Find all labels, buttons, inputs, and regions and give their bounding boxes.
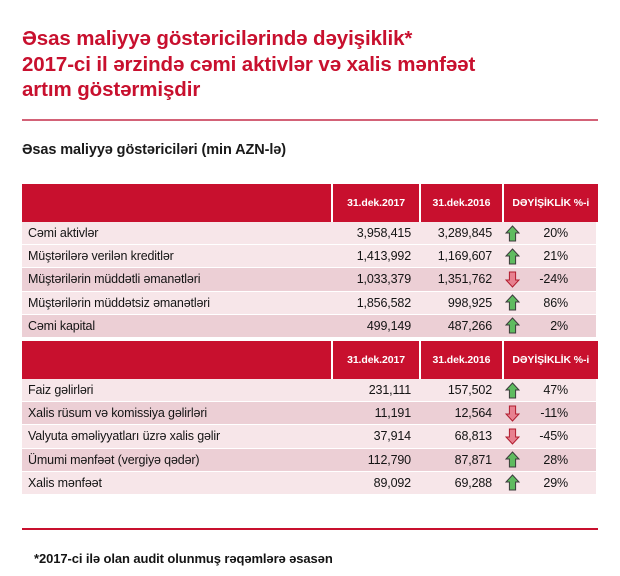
row-value-2017: 112,790 — [333, 449, 420, 471]
row-change: 20% — [501, 222, 596, 244]
arrow-down-icon — [505, 405, 520, 422]
row-label: Müştərilərin müddətli əmanətləri — [22, 268, 333, 290]
row-value-2016: 3,289,845 — [420, 222, 501, 244]
row-label: Müştərilərə verilən kreditlər — [22, 245, 333, 267]
table-row: Valyuta əməliyyatları üzrə xalis gəlir 3… — [22, 425, 598, 447]
row-value-2017: 37,914 — [333, 425, 420, 447]
row-value-2016: 1,351,762 — [420, 268, 501, 290]
row-value-2017: 1,033,379 — [333, 268, 420, 290]
table-header-row: 31.dek.2017 31.dek.2016 DƏYİŞİKLİK %-i — [22, 184, 598, 222]
row-value-2016: 87,871 — [420, 449, 501, 471]
row-value-2017: 3,958,415 — [333, 222, 420, 244]
row-change-value: -24% — [522, 272, 578, 286]
arrow-up-icon — [505, 474, 520, 491]
row-change-value: 28% — [522, 453, 578, 467]
row-label: Cəmi aktivlər — [22, 222, 333, 244]
row-value-2017: 11,191 — [333, 402, 420, 424]
row-label: Xalis rüsum və komissiya gəlirləri — [22, 402, 333, 424]
footer-divider — [22, 528, 598, 530]
row-label: Müştərilərin müddətsiz əmanətləri — [22, 292, 333, 314]
row-change: 29% — [501, 472, 596, 494]
row-value-2016: 12,564 — [420, 402, 501, 424]
row-value-2017: 89,092 — [333, 472, 420, 494]
header-cell-change: DƏYİŞİKLİK %-i — [504, 341, 598, 379]
row-value-2017: 231,111 — [333, 379, 420, 401]
arrow-up-icon — [505, 451, 520, 468]
arrow-up-icon — [505, 294, 520, 311]
row-value-2016: 1,169,607 — [420, 245, 501, 267]
header-cell-label — [22, 341, 331, 379]
page-title-line-2: 2017-ci il ərzində cəmi aktivlər və xali… — [22, 52, 598, 78]
header-cell-2017: 31.dek.2017 — [333, 184, 419, 222]
table-row: Cəmi kapital 499,149 487,266 2% — [22, 315, 598, 337]
row-label: Ümumi mənfəət (vergiyə qədər) — [22, 449, 333, 471]
row-label: Xalis mənfəət — [22, 472, 333, 494]
row-change: -45% — [501, 425, 596, 447]
table-row: Ümumi mənfəət (vergiyə qədər) 112,790 87… — [22, 449, 598, 471]
financial-table-income: 31.dek.2017 31.dek.2016 DƏYİŞİKLİK %-i F… — [22, 341, 598, 495]
table-row: Xalis rüsum və komissiya gəlirləri 11,19… — [22, 402, 598, 424]
section-subtitle: Əsas maliyyə göstəriciləri (min AZN-lə) — [22, 142, 286, 158]
row-change-value: 2% — [522, 319, 578, 333]
arrow-up-icon — [505, 225, 520, 242]
row-label: Faiz gəlirləri — [22, 379, 333, 401]
table-row: Müştərilərin müddətli əmanətləri 1,033,3… — [22, 268, 598, 290]
row-value-2017: 1,413,992 — [333, 245, 420, 267]
row-change-value: -11% — [522, 406, 578, 420]
row-value-2017: 499,149 — [333, 315, 420, 337]
header-cell-2017: 31.dek.2017 — [333, 341, 419, 379]
row-change: 86% — [501, 292, 596, 314]
title-divider — [22, 119, 598, 121]
row-value-2016: 157,502 — [420, 379, 501, 401]
row-change: 47% — [501, 379, 596, 401]
table-row: Faiz gəlirləri 231,111 157,502 47% — [22, 379, 598, 401]
table-row: Müştərilərə verilən kreditlər 1,413,992 … — [22, 245, 598, 267]
arrow-up-icon — [505, 382, 520, 399]
row-change: -11% — [501, 402, 596, 424]
row-value-2017: 1,856,582 — [333, 292, 420, 314]
row-change: 28% — [501, 449, 596, 471]
row-change-value: 47% — [522, 383, 578, 397]
row-change-value: 21% — [522, 249, 578, 263]
row-value-2016: 487,266 — [420, 315, 501, 337]
arrow-up-icon — [505, 248, 520, 265]
row-change-value: 86% — [522, 296, 578, 310]
row-value-2016: 68,813 — [420, 425, 501, 447]
table-header-row: 31.dek.2017 31.dek.2016 DƏYİŞİKLİK %-i — [22, 341, 598, 379]
arrow-down-icon — [505, 271, 520, 288]
header-cell-2016: 31.dek.2016 — [421, 184, 501, 222]
infographic-page: Əsas maliyyə göstəricilərində dəyişiklik… — [0, 0, 620, 576]
page-title-line-3: artım göstərmişdir — [22, 77, 598, 103]
row-change: 2% — [501, 315, 596, 337]
page-title: Əsas maliyyə göstəricilərində dəyişiklik… — [22, 26, 598, 103]
header-cell-change: DƏYİŞİKLİK %-i — [504, 184, 598, 222]
header-cell-2016: 31.dek.2016 — [421, 341, 501, 379]
table-row: Müştərilərin müddətsiz əmanətləri 1,856,… — [22, 292, 598, 314]
table-row: Cəmi aktivlər 3,958,415 3,289,845 20% — [22, 222, 598, 244]
row-change: 21% — [501, 245, 596, 267]
row-change-value: -45% — [522, 429, 578, 443]
header-cell-label — [22, 184, 331, 222]
arrow-up-icon — [505, 317, 520, 334]
row-change: -24% — [501, 268, 596, 290]
arrow-down-icon — [505, 428, 520, 445]
footnote-text: *2017-ci ilə olan audit olunmuş rəqəmlər… — [34, 551, 333, 566]
row-label: Cəmi kapital — [22, 315, 333, 337]
row-value-2016: 69,288 — [420, 472, 501, 494]
financial-table-assets: 31.dek.2017 31.dek.2016 DƏYİŞİKLİK %-i C… — [22, 184, 598, 338]
row-change-value: 29% — [522, 476, 578, 490]
row-label: Valyuta əməliyyatları üzrə xalis gəlir — [22, 425, 333, 447]
page-title-line-1: Əsas maliyyə göstəricilərində dəyişiklik… — [22, 26, 598, 52]
row-change-value: 20% — [522, 226, 578, 240]
table-row: Xalis mənfəət 89,092 69,288 29% — [22, 472, 598, 494]
row-value-2016: 998,925 — [420, 292, 501, 314]
